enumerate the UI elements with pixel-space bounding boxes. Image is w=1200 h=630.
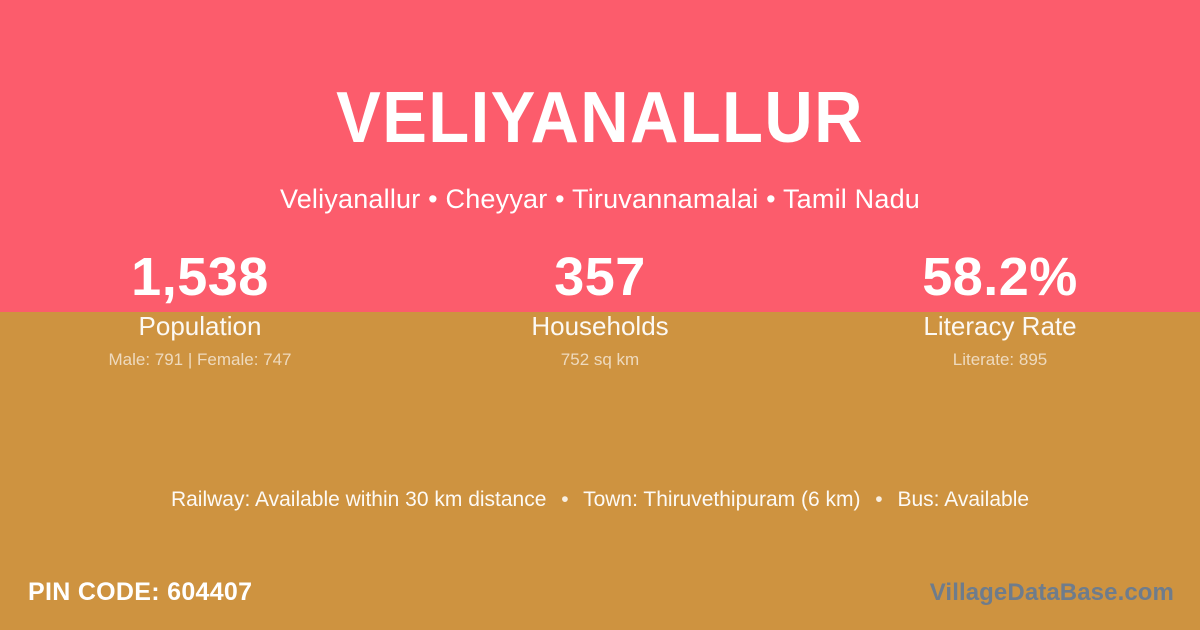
stats-row: 1,538 Population Male: 791 | Female: 747… <box>0 246 1200 371</box>
stat-population-value: 1,538 <box>0 246 400 308</box>
stat-literacy-rate: 58.2% Literacy Rate Literate: 895 <box>800 246 1200 371</box>
facility-separator-icon: • <box>552 485 577 515</box>
stat-population-sub: Male: 791 | Female: 747 <box>0 349 400 371</box>
stat-literacy-rate-value: 58.2% <box>800 246 1200 308</box>
stat-households-label: Households <box>400 310 800 342</box>
facility-town: Town: Thiruvethipuram (6 km) <box>583 488 860 511</box>
village-info-card: VELIYANALLUR Veliyanallur • Cheyyar • Ti… <box>0 0 1200 630</box>
page-title: VELIYANALLUR <box>42 78 1158 158</box>
stat-literacy-rate-label: Literacy Rate <box>800 310 1200 342</box>
stat-population: 1,538 Population Male: 791 | Female: 747 <box>0 246 400 371</box>
facility-bus: Bus: Available <box>898 488 1030 511</box>
facility-separator-icon: • <box>866 485 891 515</box>
stat-households-value: 357 <box>400 246 800 308</box>
pin-code: PIN CODE: 604407 <box>28 576 252 608</box>
stat-literacy-rate-sub: Literate: 895 <box>800 349 1200 371</box>
stat-population-label: Population <box>0 310 400 342</box>
facility-railway: Railway: Available within 30 km distance <box>171 488 546 511</box>
stat-households-sub: 752 sq km <box>400 349 800 371</box>
stat-households: 357 Households 752 sq km <box>400 246 800 371</box>
brand-watermark: VillageDataBase.com <box>930 578 1174 608</box>
facilities-line: Railway: Available within 30 km distance… <box>0 485 1200 515</box>
breadcrumb: Veliyanallur • Cheyyar • Tiruvannamalai … <box>0 182 1200 216</box>
